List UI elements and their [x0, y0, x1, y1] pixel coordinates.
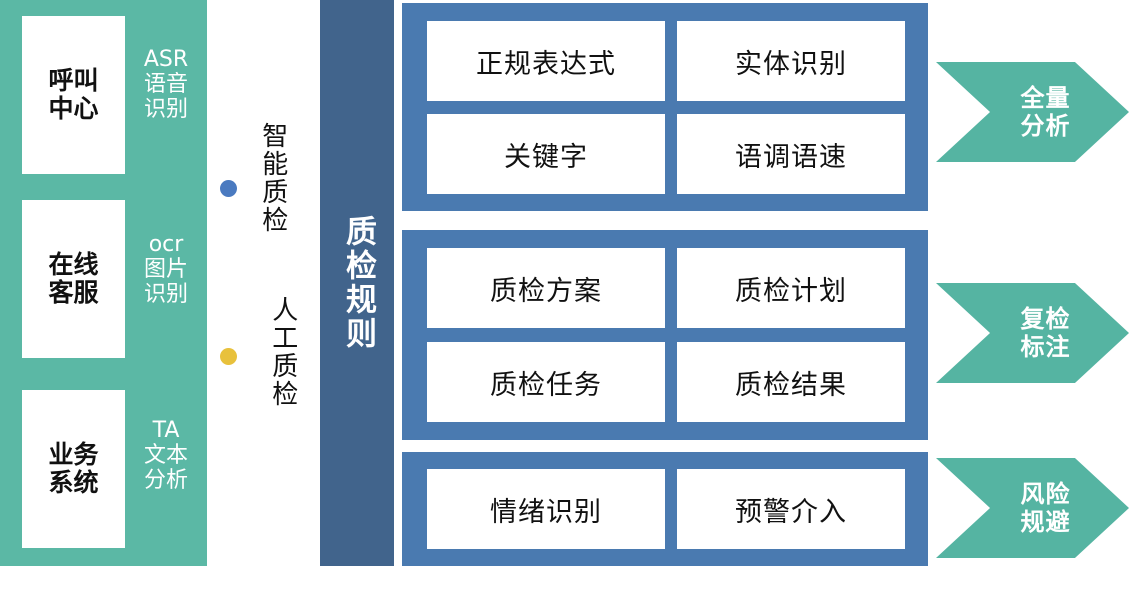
source-tag-ocr: ocr 图片 识别	[130, 232, 202, 307]
source-box-business-system-label: 业务 系统	[48, 441, 98, 497]
cell-inspection-plan-scheme[interactable]: 质检方案	[427, 248, 665, 328]
source-box-online-service-label: 在线 客服	[48, 251, 98, 307]
outcome-arrow-risk-avoidance-label: 风险 规避	[1021, 480, 1071, 537]
cell-inspection-result[interactable]: 质检结果	[677, 342, 905, 422]
source-box-business-system[interactable]: 业务 系统	[22, 390, 125, 548]
bullet-smart-inspection	[220, 180, 237, 197]
risk-handling-panel: 情绪识别 预警介入	[402, 452, 928, 566]
quality-rule-bar-label: 质检规则	[339, 215, 375, 351]
cell-intonation-speed[interactable]: 语调语速	[677, 114, 905, 194]
cell-emotion-recognition[interactable]: 情绪识别	[427, 469, 665, 549]
outcome-arrow-recheck-annotation-label: 复检 标注	[1021, 305, 1071, 362]
source-box-call-center[interactable]: 呼叫 中心	[22, 16, 125, 174]
bullet-manual-inspection	[220, 348, 237, 365]
inspection-process-panel: 质检方案 质检计划 质检任务 质检结果	[402, 230, 928, 440]
mode-label-manual-inspection: 人工质检	[265, 296, 299, 408]
outcome-arrow-recheck-annotation[interactable]: 复检 标注	[936, 283, 1129, 383]
outcome-arrow-full-analysis-label: 全量 分析	[1021, 84, 1071, 141]
cell-regex[interactable]: 正规表达式	[427, 21, 665, 101]
cell-inspection-schedule[interactable]: 质检计划	[677, 248, 905, 328]
cell-early-warning-intervention[interactable]: 预警介入	[677, 469, 905, 549]
source-box-online-service[interactable]: 在线 客服	[22, 200, 125, 358]
source-box-call-center-label: 呼叫 中心	[48, 67, 98, 123]
rule-definition-panel: 正规表达式 实体识别 关键字 语调语速	[402, 3, 928, 211]
mode-label-smart-inspection: 智能质检	[255, 122, 289, 234]
inspection-mode-column: 智能质检 人工质检	[207, 0, 320, 566]
data-source-panel: 呼叫 中心 ASR 语音 识别 在线 客服 ocr 图片 识别 业务 系统	[0, 0, 207, 566]
diagram-canvas: 呼叫 中心 ASR 语音 识别 在线 客服 ocr 图片 识别 业务 系统	[0, 0, 1129, 603]
cell-inspection-task[interactable]: 质检任务	[427, 342, 665, 422]
cell-keyword[interactable]: 关键字	[427, 114, 665, 194]
quality-rule-bar[interactable]: 质检规则	[320, 0, 394, 566]
cell-entity-recognition[interactable]: 实体识别	[677, 21, 905, 101]
outcome-arrow-risk-avoidance[interactable]: 风险 规避	[936, 458, 1129, 558]
outcome-arrow-full-analysis[interactable]: 全量 分析	[936, 62, 1129, 162]
source-tag-ta: TA 文本 分析	[130, 418, 202, 493]
source-tag-asr: ASR 语音 识别	[130, 47, 202, 122]
